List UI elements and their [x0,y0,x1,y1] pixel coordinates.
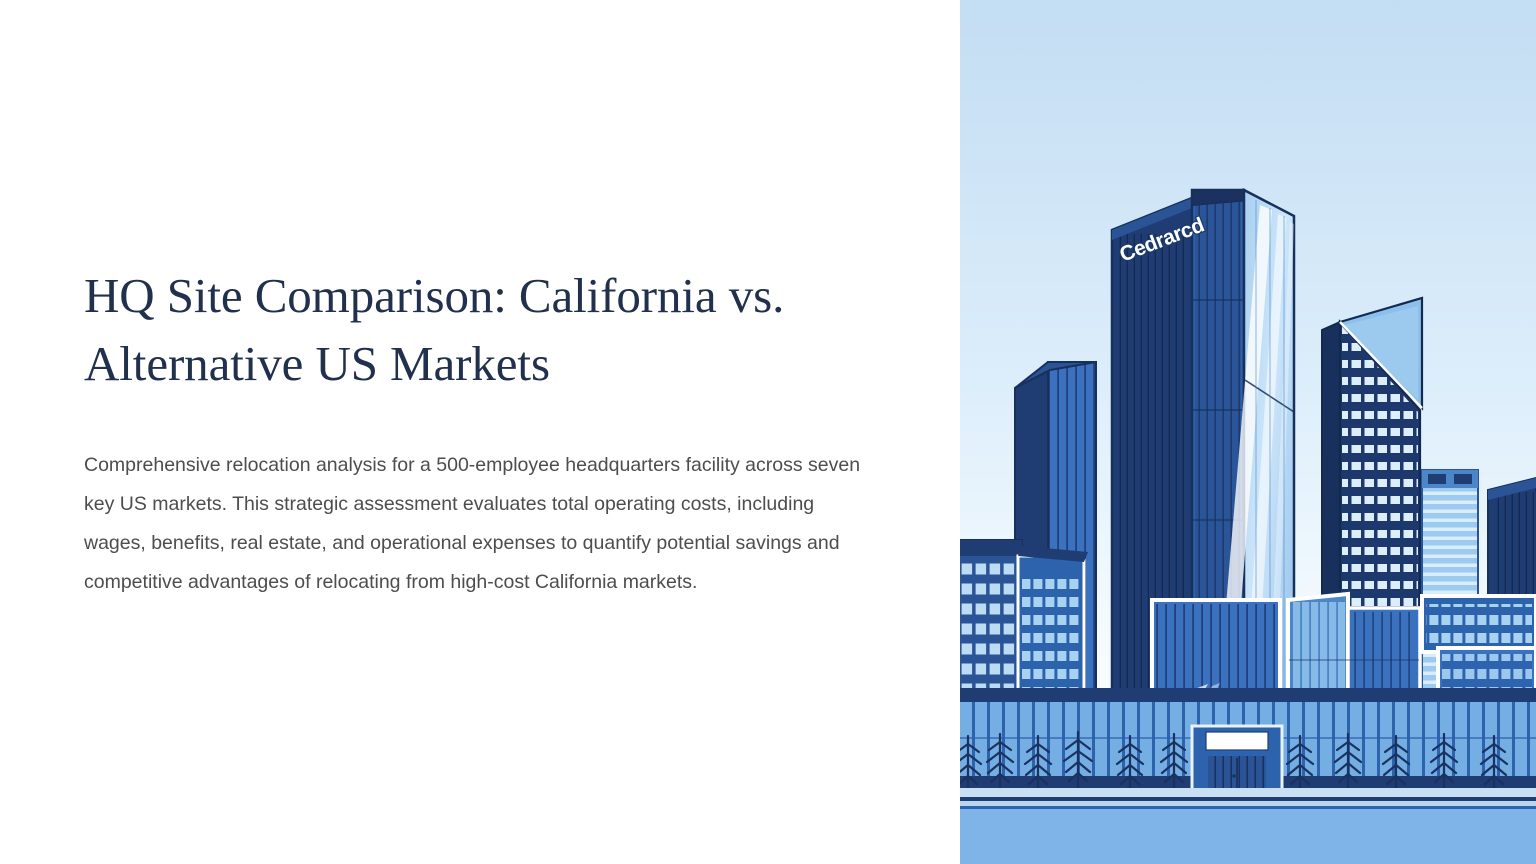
street-foreground [960,788,1536,864]
skyline-svg: Cedrarcd [960,0,1536,864]
city-skyline-illustration: Cedrarcd [960,0,1536,864]
page-title: HQ Site Comparison: California vs. Alter… [84,262,900,398]
slide-description: Comprehensive relocation analysis for a … [84,446,874,602]
slide-root: HQ Site Comparison: California vs. Alter… [0,0,1536,864]
podium-entrance [1192,726,1282,792]
text-panel: HQ Site Comparison: California vs. Alter… [0,0,960,864]
entrance-sign-band [1206,732,1268,750]
